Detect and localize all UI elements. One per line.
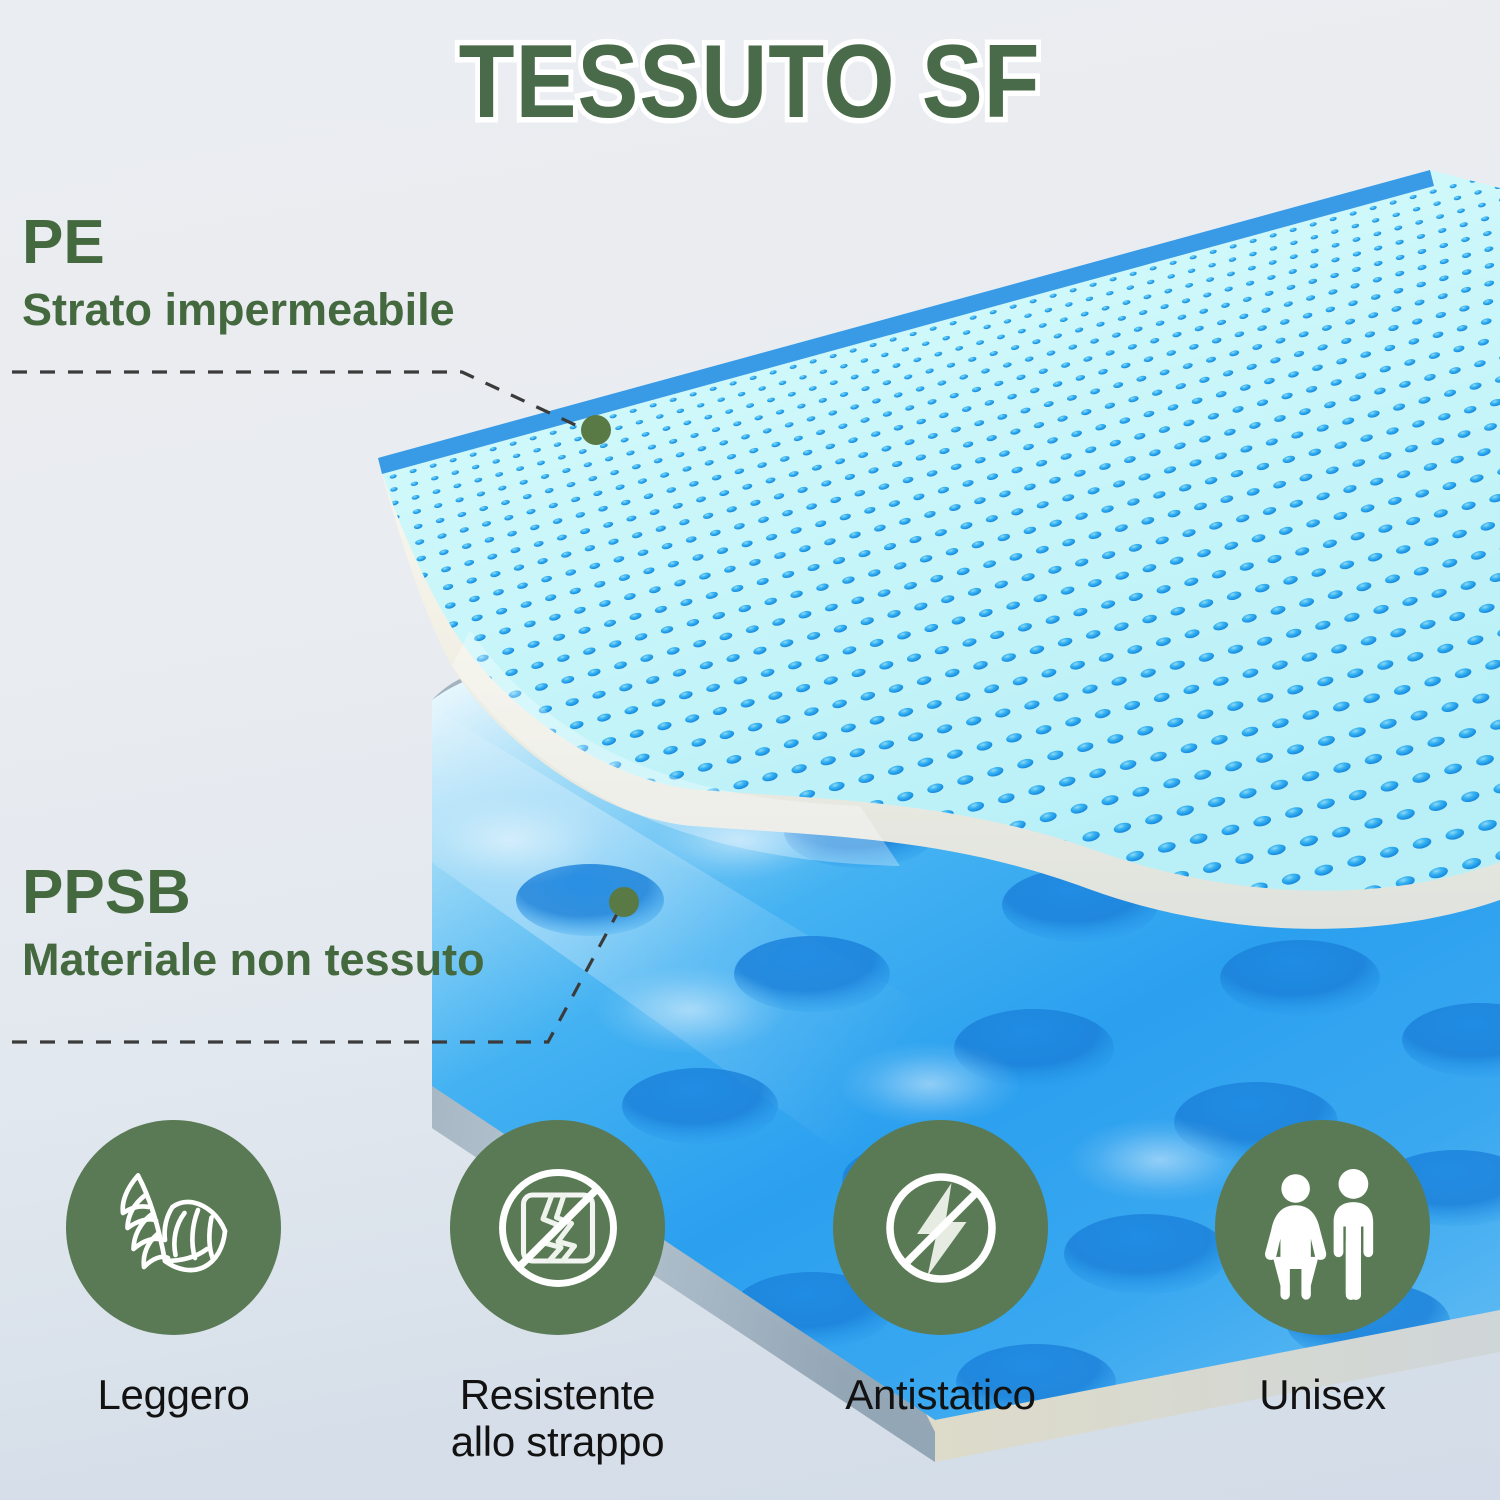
callout-pe: PE Strato impermeabile (22, 212, 455, 332)
feature-icon-row: Leggero Resistente allo strappo (0, 1100, 1500, 1500)
feature-label: Antistatico (845, 1371, 1035, 1418)
unisex-people-icon (1247, 1152, 1399, 1304)
callout-ppsb-description: Materiale non tessuto (22, 937, 485, 982)
callout-leader-pe (12, 372, 586, 430)
feature-leggero: Leggero (0, 1100, 375, 1500)
feature-icon-circle (833, 1120, 1048, 1335)
page-title-container: TESSUTO SF (0, 28, 1500, 137)
feature-icon-circle (66, 1120, 281, 1335)
page-title: TESSUTO SF (459, 28, 1041, 137)
callout-pe-code: PE (22, 212, 455, 274)
feature-icon-circle (1215, 1120, 1430, 1335)
feature-label: Unisex (1259, 1371, 1386, 1418)
callout-dot-pe (581, 415, 611, 445)
feature-icon-circle (450, 1120, 665, 1335)
feature-resistente-allo-strappo: Resistente allo strappo (375, 1100, 750, 1500)
no-tear-icon (483, 1153, 633, 1303)
feature-unisex: Unisex (1125, 1100, 1500, 1500)
callout-dot-ppsb (609, 887, 639, 917)
feature-antistatico: Antistatico (750, 1100, 1125, 1500)
feather-icon (99, 1153, 249, 1303)
callout-ppsb-code: PPSB (22, 862, 485, 924)
no-static-bolt-icon (866, 1153, 1016, 1303)
callout-pe-description: Strato impermeabile (22, 287, 455, 332)
feature-label: Leggero (97, 1371, 249, 1418)
feature-label: Resistente allo strappo (451, 1371, 665, 1465)
callout-ppsb: PPSB Materiale non tessuto (22, 862, 485, 982)
